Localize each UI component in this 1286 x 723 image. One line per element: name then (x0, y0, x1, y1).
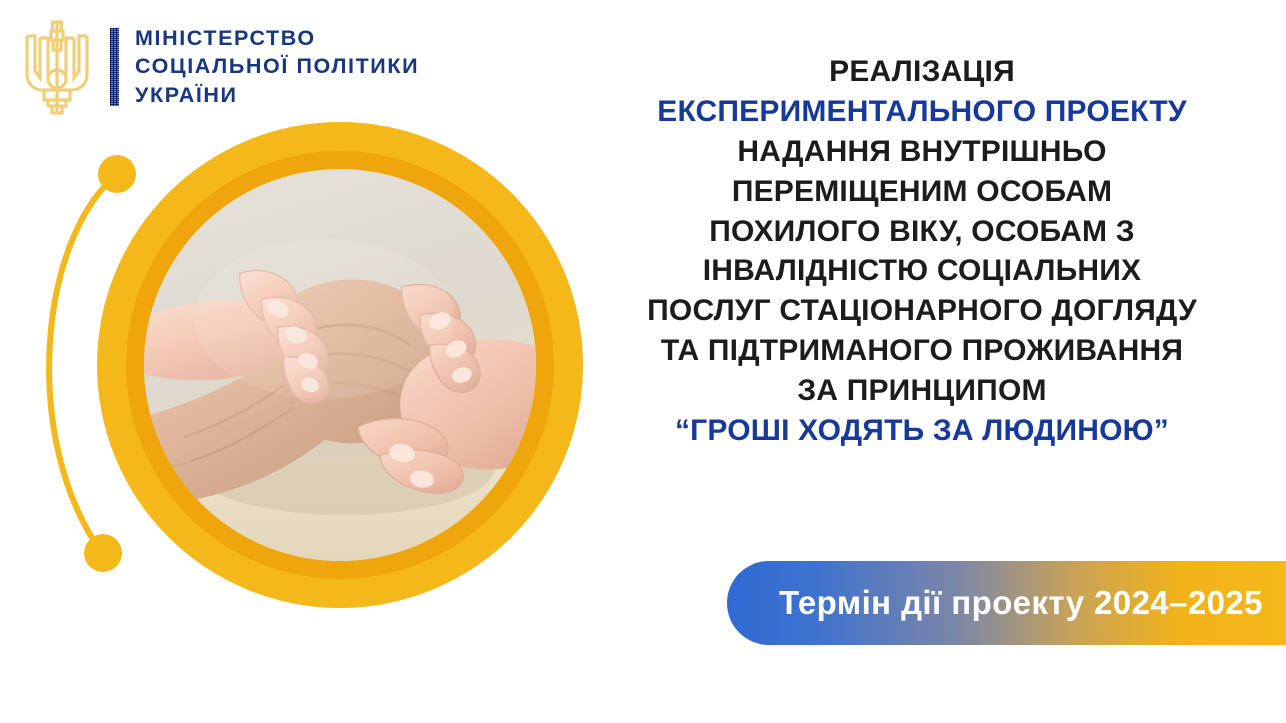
ministry-line-3: УКРАЇНИ (135, 82, 419, 110)
ministry-name: МІНІСТЕРСТВО СОЦІАЛЬНОЇ ПОЛІТИКИ УКРАЇНИ (135, 25, 419, 110)
title-line: ПОСЛУГ СТАЦІОНАРНОГО ДОГЛЯДУ (592, 291, 1252, 331)
main-title: РЕАЛІЗАЦІЯ ЕКСПЕРИМЕНТАЛЬНОГО ПРОЕКТУ НА… (592, 52, 1252, 451)
project-term-label: Термін дії проекту 2024–2025 (779, 584, 1263, 622)
project-term-banner: Термін дії проекту 2024–2025 (727, 561, 1286, 645)
poster-canvas: МІНІСТЕРСТВО СОЦІАЛЬНОЇ ПОЛІТИКИ УКРАЇНИ (0, 0, 1286, 723)
ministry-line-1: МІНІСТЕРСТВО (135, 25, 419, 53)
title-line: ЗА ПРИНЦИПОМ (592, 371, 1252, 411)
logo-divider (110, 28, 119, 106)
title-line: НАДАННЯ ВНУТРІШНЬО (592, 132, 1252, 172)
photo-composition (18, 110, 578, 630)
ministry-line-2: СОЦІАЛЬНОЇ ПОЛІТИКИ (135, 53, 419, 81)
title-line: ІНВАЛІДНІСТЮ СОЦІАЛЬНИХ (592, 251, 1252, 291)
ukraine-trident-emblem (18, 16, 96, 118)
care-hands-photo (144, 169, 536, 561)
title-line: РЕАЛІЗАЦІЯ (592, 52, 1252, 92)
title-line: ЕКСПЕРИМЕНТАЛЬНОГО ПРОЕКТУ (592, 92, 1252, 132)
title-line: ПОХИЛОГО ВІКУ, ОСОБАМ З (592, 212, 1252, 252)
title-line: ТА ПІДТРИМАНОГО ПРОЖИВАННЯ (592, 331, 1252, 371)
title-line: “ГРОШІ ХОДЯТЬ ЗА ЛЮДИНОЮ” (592, 411, 1252, 451)
title-line: ПЕРЕМІЩЕНИМ ОСОБАМ (592, 172, 1252, 212)
ministry-logo: МІНІСТЕРСТВО СОЦІАЛЬНОЇ ПОЛІТИКИ УКРАЇНИ (18, 16, 419, 118)
